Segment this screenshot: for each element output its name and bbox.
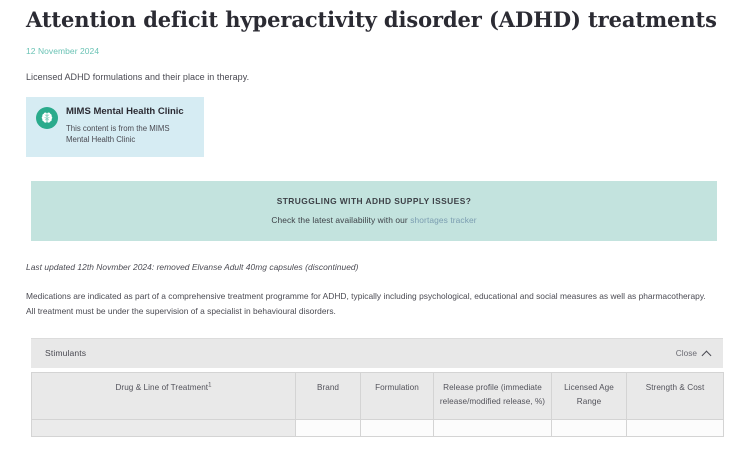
- promo-banner: STRUGGLING WITH ADHD SUPPLY ISSUES? Chec…: [31, 181, 717, 241]
- promo-banner-subtext-label: Check the latest availability with our: [271, 215, 410, 225]
- article-standfirst: Licensed ADHD formulations and their pla…: [26, 72, 717, 82]
- table-header-row: Drug & Line of Treatment1 Brand Formulat…: [32, 372, 724, 420]
- table-row: [32, 420, 724, 437]
- article-body-paragraph: Medications are indicated as part of a c…: [26, 289, 716, 320]
- table-cell-brand: [296, 420, 361, 437]
- table-cell-age-range: [552, 420, 627, 437]
- brain-icon: [36, 107, 58, 129]
- article-page: Attention deficit hyperactivity disorder…: [0, 7, 743, 465]
- drug-table: Drug & Line of Treatment1 Brand Formulat…: [31, 372, 724, 438]
- accordion-stimulants: Stimulants Close: [31, 338, 723, 368]
- last-updated-note: Last updated 12th Novmber 2024: removed …: [26, 262, 717, 272]
- column-header-strength-cost: Strength & Cost: [627, 372, 724, 420]
- column-header-drug-label: Drug & Line of Treatment: [115, 383, 208, 392]
- promo-banner-heading: STRUGGLING WITH ADHD SUPPLY ISSUES?: [277, 196, 472, 206]
- publication-date: 12 November 2024: [26, 46, 717, 56]
- accordion-header-stimulants[interactable]: Stimulants Close: [31, 339, 723, 368]
- source-card-text: MIMS Mental Health Clinic This content i…: [66, 106, 194, 145]
- chevron-up-icon: [702, 349, 710, 357]
- drug-table-container: Drug & Line of Treatment1 Brand Formulat…: [31, 368, 723, 438]
- column-header-licensed-age-range: Licensed Age Range: [552, 372, 627, 420]
- column-header-release-profile: Release profile (immediate release/modif…: [434, 372, 552, 420]
- accordion-toggle-label: Close: [676, 348, 697, 358]
- shortages-tracker-link[interactable]: shortages tracker: [410, 215, 476, 225]
- accordion-title: Stimulants: [45, 348, 86, 358]
- drug-table-body: [32, 420, 724, 437]
- column-header-formulation: Formulation: [361, 372, 434, 420]
- drug-table-head: Drug & Line of Treatment1 Brand Formulat…: [32, 372, 724, 420]
- table-cell-strength-cost: [627, 420, 724, 437]
- promo-banner-subtext: Check the latest availability with our s…: [271, 215, 476, 225]
- column-header-drug: Drug & Line of Treatment1: [32, 372, 296, 420]
- table-cell-drug: [32, 420, 296, 437]
- source-card-title: MIMS Mental Health Clinic: [66, 106, 194, 118]
- column-header-brand: Brand: [296, 372, 361, 420]
- accordion-close-toggle[interactable]: Close: [676, 348, 710, 358]
- source-card[interactable]: MIMS Mental Health Clinic This content i…: [26, 97, 204, 156]
- page-title: Attention deficit hyperactivity disorder…: [26, 7, 717, 33]
- table-cell-formulation: [361, 420, 434, 437]
- column-header-footnote: 1: [208, 382, 211, 388]
- table-cell-release-profile: [434, 420, 552, 437]
- source-card-description: This content is from the MIMS Mental Hea…: [66, 123, 194, 145]
